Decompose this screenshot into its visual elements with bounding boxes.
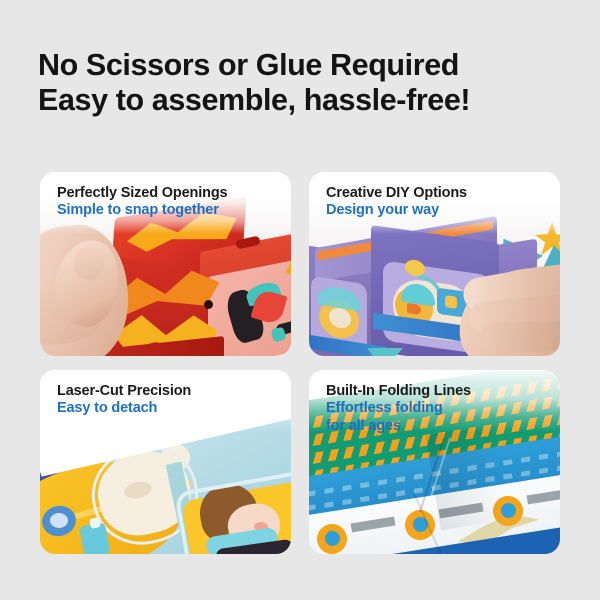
headline-line-1: No Scissors or Glue Required <box>38 48 578 83</box>
card-photo-punch-sheet <box>40 370 291 554</box>
card-photo-red-cube <box>40 172 291 356</box>
headline-line-2: Easy to assemble, hassle-free! <box>38 83 578 118</box>
feature-card-perfectly-sized-openings[interactable]: Perfectly Sized Openings Simple to snap … <box>40 172 291 356</box>
card-photo-folding-lines <box>309 370 560 554</box>
feature-card-built-in-folding-lines[interactable]: Built-In Folding Lines Effortless foldin… <box>309 370 560 554</box>
feature-card-grid: Perfectly Sized Openings Simple to snap … <box>40 172 560 554</box>
card-photo-space-vehicle <box>309 172 560 356</box>
feature-card-creative-diy-options[interactable]: Creative DIY Options Design your way <box>309 172 560 356</box>
product-feature-infographic: No Scissors or Glue Required Easy to ass… <box>0 0 600 600</box>
headline: No Scissors or Glue Required Easy to ass… <box>38 48 578 118</box>
feature-card-laser-cut-precision[interactable]: Laser-Cut Precision Easy to detach <box>40 370 291 554</box>
